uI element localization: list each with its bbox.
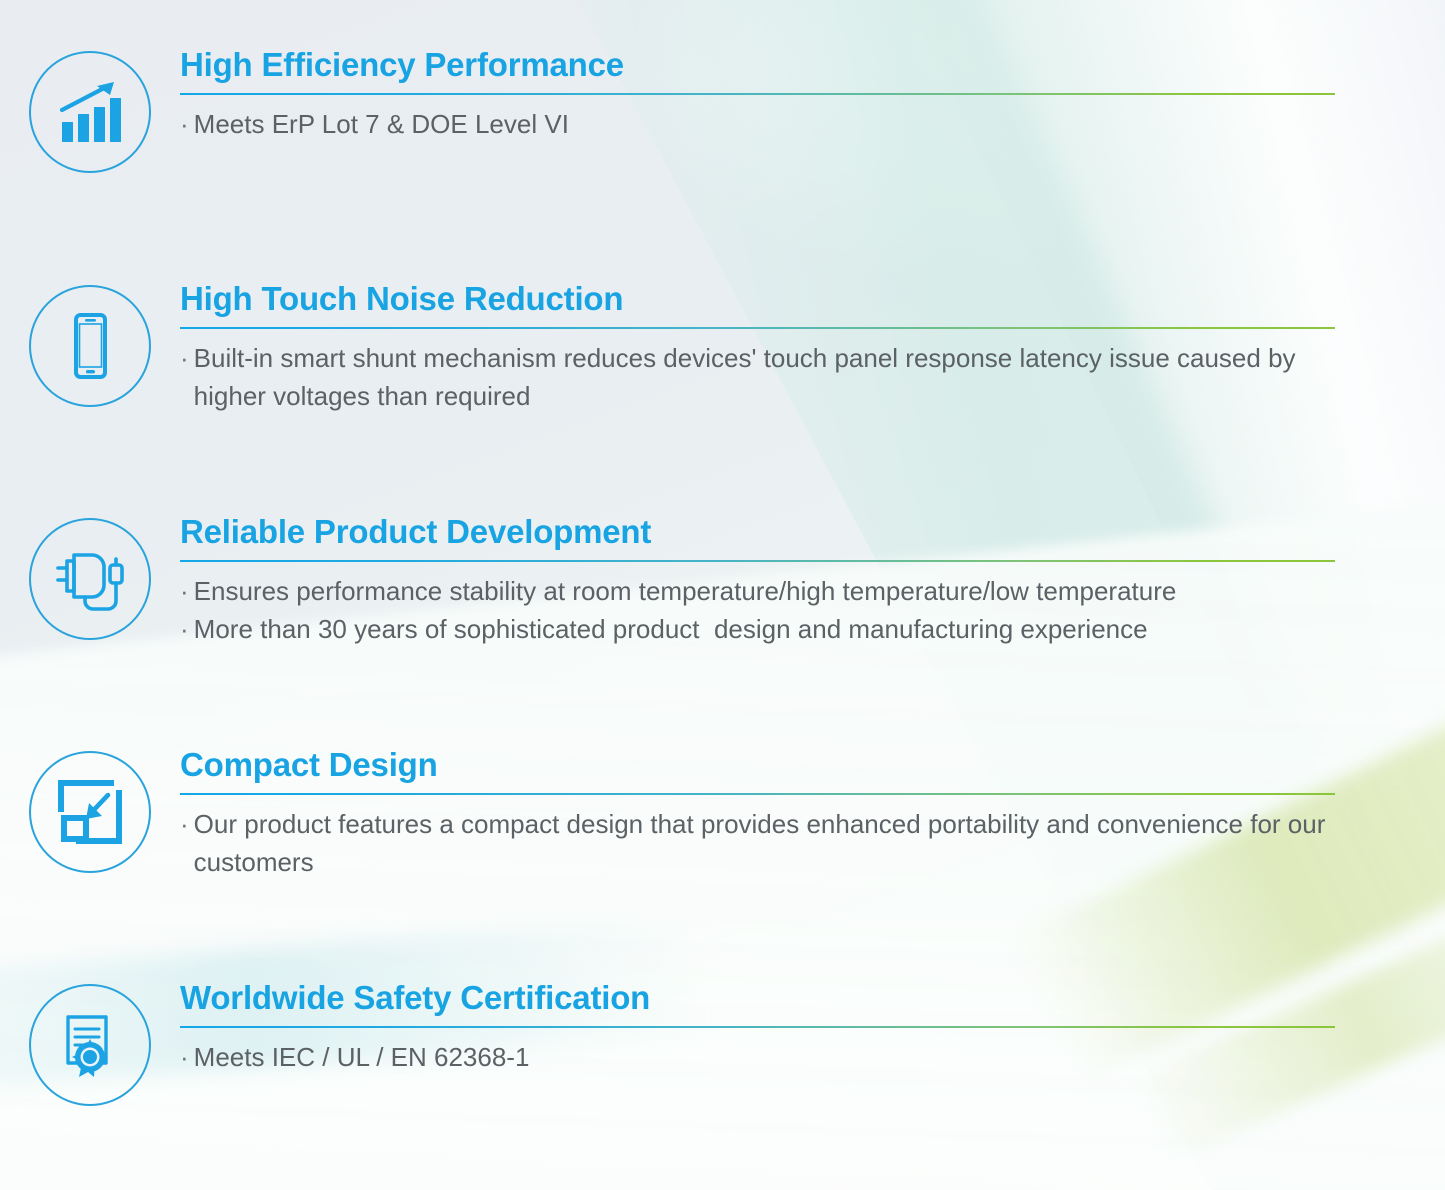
feature-icon-container (0, 281, 180, 407)
bullet-text: Built-in smart shunt mechanism reduces d… (194, 340, 1365, 416)
bullet-dot: · (180, 340, 189, 378)
feature-title: Worldwide Safety Certification (180, 980, 1365, 1017)
feature-divider (180, 1026, 1335, 1028)
feature-divider (180, 793, 1335, 795)
bullet-text: Meets IEC / UL / EN 62368-1 (194, 1039, 1365, 1077)
feature-bullet-list: · Meets ErP Lot 7 & DOE Level VI (180, 106, 1365, 144)
feature-item-worldwide-safety-certification: Worldwide Safety Certification · Meets I… (0, 980, 1445, 1106)
feature-content: Compact Design · Our product features a … (180, 747, 1445, 882)
feature-icon-container (0, 47, 180, 173)
feature-icon-container (0, 980, 180, 1106)
feature-divider (180, 560, 1335, 562)
feature-list-page: High Efficiency Performance · Meets ErP … (0, 0, 1445, 1190)
feature-bullet-list: · Our product features a compact design … (180, 806, 1365, 882)
feature-icon-container (0, 747, 180, 873)
smartphone-icon (29, 285, 151, 407)
bullet-dot: · (180, 1039, 189, 1077)
feature-title: High Efficiency Performance (180, 47, 1365, 84)
certificate-award-icon (29, 984, 151, 1106)
bullet-text: Meets ErP Lot 7 & DOE Level VI (194, 106, 1365, 144)
feature-divider (180, 93, 1335, 95)
feature-content: Reliable Product Development · Ensures p… (180, 514, 1445, 649)
bullet-text: Our product features a compact design th… (194, 806, 1365, 882)
list-item: · Meets IEC / UL / EN 62368-1 (180, 1039, 1365, 1077)
bar-chart-growth-icon (29, 51, 151, 173)
feature-bullet-list: · Ensures performance stability at room … (180, 573, 1365, 649)
feature-content: High Touch Noise Reduction · Built-in sm… (180, 281, 1445, 416)
feature-icon-container (0, 514, 180, 640)
bullet-dot: · (180, 611, 189, 649)
feature-item-reliable-product-development: Reliable Product Development · Ensures p… (0, 514, 1445, 649)
list-item: · Meets ErP Lot 7 & DOE Level VI (180, 106, 1365, 144)
list-item: · Ensures performance stability at room … (180, 573, 1365, 611)
bullet-text: Ensures performance stability at room te… (194, 573, 1365, 611)
feature-title: Compact Design (180, 747, 1365, 784)
compact-resize-icon (29, 751, 151, 873)
feature-item-compact-design: Compact Design · Our product features a … (0, 747, 1445, 882)
feature-content: High Efficiency Performance · Meets ErP … (180, 47, 1445, 144)
feature-bullet-list: · Built-in smart shunt mechanism reduces… (180, 340, 1365, 416)
feature-title: Reliable Product Development (180, 514, 1365, 551)
list-item: · Our product features a compact design … (180, 806, 1365, 882)
bullet-dot: · (180, 573, 189, 611)
feature-title: High Touch Noise Reduction (180, 281, 1365, 318)
bullet-dot: · (180, 106, 189, 144)
list-item: · More than 30 years of sophisticated pr… (180, 611, 1365, 649)
feature-divider (180, 327, 1335, 329)
feature-item-high-touch-noise-reduction: High Touch Noise Reduction · Built-in sm… (0, 281, 1445, 416)
list-item: · Built-in smart shunt mechanism reduces… (180, 340, 1365, 416)
bullet-text: More than 30 years of sophisticated prod… (194, 611, 1365, 649)
power-adapter-icon (29, 518, 151, 640)
feature-content: Worldwide Safety Certification · Meets I… (180, 980, 1445, 1077)
feature-bullet-list: · Meets IEC / UL / EN 62368-1 (180, 1039, 1365, 1077)
bullet-dot: · (180, 806, 189, 844)
feature-item-high-efficiency-performance: High Efficiency Performance · Meets ErP … (0, 47, 1445, 173)
